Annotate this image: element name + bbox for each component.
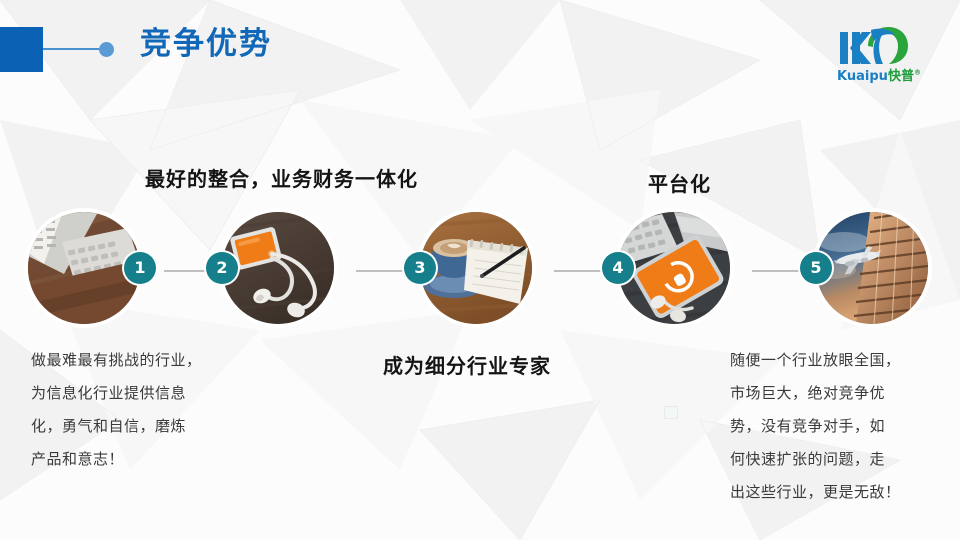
logo-text-cn: 快普 [888, 69, 914, 84]
heading-vertical-expert: 成为细分行业专家 [383, 350, 551, 379]
logo-registered-mark: ® [914, 69, 921, 77]
logo-text-en: Kuaipu [837, 69, 888, 84]
step-badge-1[interactable]: 1 [124, 252, 156, 284]
step-badge-2[interactable]: 2 [206, 252, 238, 284]
header-accent-square [0, 27, 43, 72]
step-item-2[interactable]: 2 [222, 212, 334, 324]
paragraph-right-line-1: 随便一个行业放眼全国， [730, 344, 945, 377]
brand-logo: Kuaipu快普® [820, 26, 938, 84]
mp3-earbuds-photo [222, 212, 334, 324]
paragraph-left-line-4: 产品和意志！ [31, 443, 246, 476]
header-accent-line [43, 48, 103, 50]
paragraph-left-line-3: 化，勇气和自信，磨炼 [31, 410, 246, 443]
paragraph-left-line-1: 做最难最有挑战的行业， [31, 344, 246, 377]
step-item-5[interactable]: 5 [816, 212, 928, 324]
logo-wordmark: Kuaipu快普® [820, 65, 938, 84]
paragraph-right-line-2: 市场巨大，绝对竞争优 [730, 377, 945, 410]
step-badge-5[interactable]: 5 [800, 252, 832, 284]
step-badge-3[interactable]: 3 [404, 252, 436, 284]
step-sequence: 1 [0, 212, 960, 324]
slide-root: 竞争优势 Kuaipu快普® 最好的整合，业务财务一体化 平台化 成为细分行业专… [0, 0, 960, 540]
step-item-4[interactable]: 4 [618, 212, 730, 324]
paragraph-right-line-5: 出这些行业，更是无敌！ [730, 476, 945, 509]
step-badge-4[interactable]: 4 [602, 252, 634, 284]
paragraph-right-line-4: 何快速扩张的问题，走 [730, 443, 945, 476]
paragraph-right: 随便一个行业放眼全国， 市场巨大，绝对竞争优 势，没有竞争对手，如 何快速扩张的… [730, 344, 945, 509]
heading-platformization: 平台化 [648, 168, 711, 197]
paragraph-left-line-2: 为信息化行业提供信息 [31, 377, 246, 410]
faint-artifact [664, 406, 678, 419]
kuaipu-logo-icon [838, 26, 912, 66]
smartphone-keyboard-photo [618, 212, 730, 324]
page-title: 竞争优势 [140, 22, 272, 66]
airplane-building-photo [816, 212, 928, 324]
step-item-3[interactable]: 3 [420, 212, 532, 324]
header-accent-dot [99, 42, 114, 57]
paragraph-right-line-3: 势，没有竞争对手，如 [730, 410, 945, 443]
heading-integration: 最好的整合，业务财务一体化 [145, 163, 418, 192]
paragraph-left: 做最难最有挑战的行业， 为信息化行业提供信息 化，勇气和自信，磨炼 产品和意志！ [31, 344, 246, 476]
coffee-notebook-pen-photo [420, 212, 532, 324]
step-item-1[interactable]: 1 [28, 212, 140, 324]
